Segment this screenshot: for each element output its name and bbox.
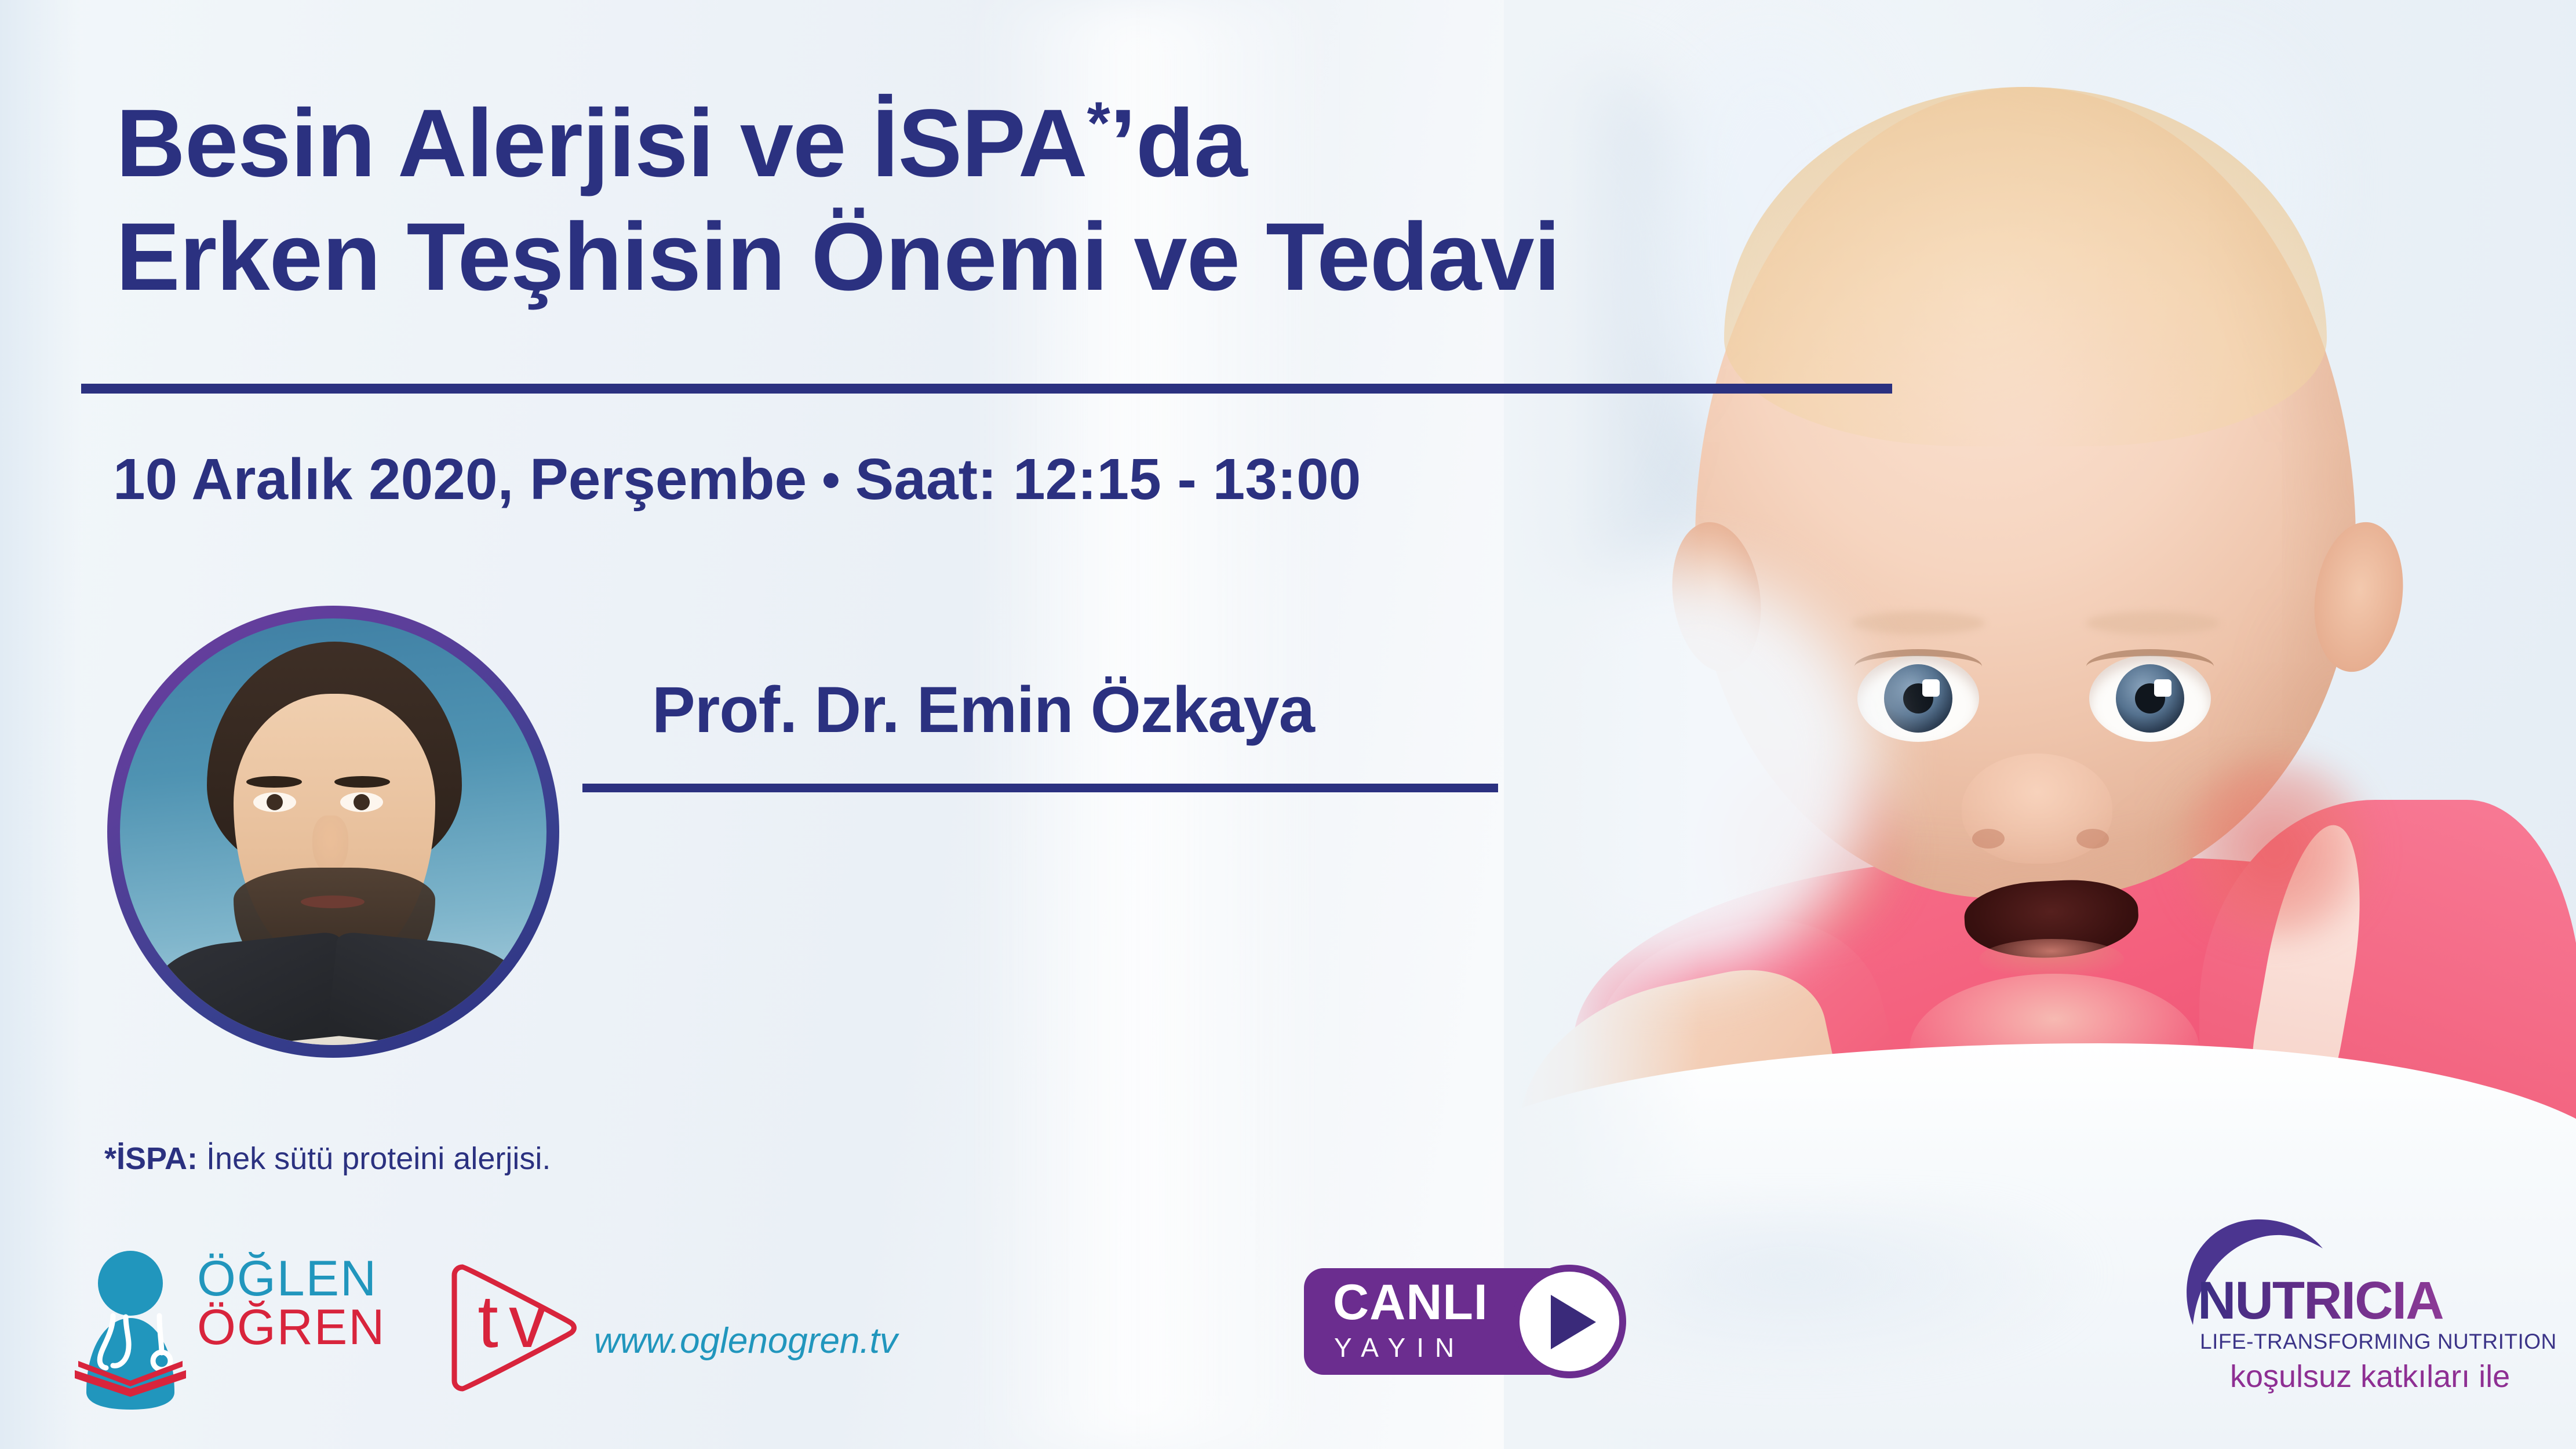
title-line-2: Erken Teşhisin Önemi ve Tedavi: [116, 201, 1912, 314]
baby-flushed-cheek-right: [2159, 753, 2391, 945]
speaker-suit-left: [150, 931, 351, 1045]
speaker-mouth: [301, 895, 365, 908]
event-time: Saat: 12:15 - 13:00: [855, 447, 1361, 512]
baby-lash-right: [2086, 649, 2214, 684]
oglenogren-wordmark: ÖĞLEN ÖĞREN: [197, 1254, 385, 1352]
oglen-text: ÖĞLEN: [197, 1254, 385, 1303]
footnote-term: İSPA:: [116, 1141, 198, 1176]
speaker-nose: [312, 815, 348, 873]
nutricia-logo: NUTRICIA LIFE-TRANSFORMING NUTRITION koş…: [2167, 1211, 2515, 1403]
live-badge-line-1: CANLI: [1333, 1277, 1488, 1327]
svg-text:t: t: [478, 1280, 498, 1363]
datetime-separator-dot: •: [807, 451, 855, 511]
nutricia-wordmark: NUTRICIA: [2198, 1274, 2443, 1327]
avatar: [107, 606, 559, 1058]
speaker-divider: [582, 784, 1498, 792]
event-date: 10 Aralık 2020, Perşembe: [113, 447, 807, 512]
nutricia-tagline: LIFE-TRANSFORMING NUTRITION: [2200, 1331, 2557, 1352]
live-broadcast-badge[interactable]: CANLI YAYIN: [1304, 1265, 1652, 1378]
title-divider: [81, 384, 1892, 394]
webinar-announcement-banner: Besin Alerjisi ve İSPA*’da Erken Teşhisi…: [0, 0, 2576, 1449]
live-badge-play-button[interactable]: [1513, 1265, 1626, 1378]
baby-nostril-right: [2076, 829, 2109, 849]
page-title: Besin Alerjisi ve İSPA*’da Erken Teşhisi…: [116, 87, 1912, 314]
speaker-eye-right: [340, 792, 383, 812]
baby-nostril-left: [1972, 829, 2005, 849]
background-left-vignette: [0, 0, 81, 1449]
speaker-eye-left: [253, 792, 296, 812]
footnote: *İSPA: İnek sütü proteini alerjisi.: [104, 1141, 551, 1177]
avatar-photo: [120, 618, 546, 1045]
speaker-brow-left: [246, 776, 302, 788]
title-line-1-suffix: ’da: [1110, 90, 1247, 197]
baby-brow-right: [2086, 611, 2220, 635]
speaker-brow-right: [334, 776, 390, 788]
baby-lash-left: [1854, 649, 1982, 684]
svg-text:v: v: [509, 1280, 546, 1363]
live-badge-line-2: YAYIN: [1334, 1334, 1465, 1361]
oglenogren-logo[interactable]: ÖĞLEN ÖĞREN t v www.oglenogren.tv: [72, 1246, 826, 1414]
title-line-1-main: Besin Alerjisi ve İSPA: [116, 90, 1087, 197]
footnote-marker: *: [104, 1141, 116, 1176]
event-datetime: 10 Aralık 2020, Perşembe•Saat: 12:15 - 1…: [113, 446, 1361, 513]
tv-play-triangle-icon: t v: [435, 1250, 591, 1406]
speaker-name: Prof. Dr. Emin Özkaya: [652, 672, 1314, 747]
ogren-text: ÖĞREN: [197, 1303, 385, 1352]
title-asterisk: *: [1087, 90, 1110, 156]
baby-brow-left: [1852, 611, 1985, 635]
nutricia-sponsor-note: koşulsuz katkıları ile: [2230, 1361, 2510, 1392]
oglenogren-url[interactable]: www.oglenogren.tv: [594, 1320, 898, 1361]
speaker-suit-right: [327, 931, 528, 1045]
play-triangle-icon: [1551, 1295, 1596, 1349]
title-line-1: Besin Alerjisi ve İSPA*’da: [116, 87, 1912, 201]
footnote-definition: İnek sütü proteini alerjisi.: [198, 1141, 551, 1176]
doctor-with-book-icon: [72, 1247, 188, 1410]
